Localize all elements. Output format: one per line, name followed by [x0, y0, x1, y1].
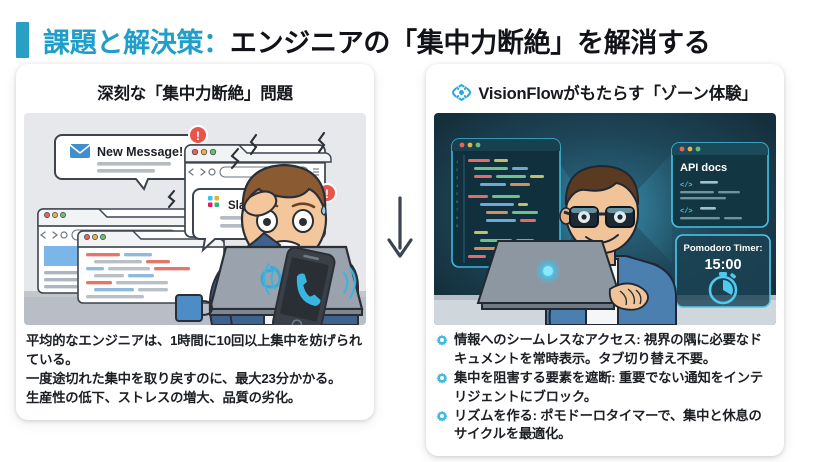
focused-engineer-ar-illustration: 123 456 789 [434, 113, 776, 325]
svg-text:8: 8 [456, 217, 458, 221]
list-item-lead: 集中を阻害する要素を遮断: [454, 370, 615, 385]
solution-panel: VisionFlowがもたらす「ゾーン体験」 [426, 64, 784, 456]
svg-text:1: 1 [456, 161, 458, 165]
visionflow-logo-icon [452, 83, 471, 102]
title-accent-bar [16, 22, 29, 58]
pomodoro-timer-label: Pomodoro Timer: [684, 243, 763, 254]
gear-icon [436, 372, 448, 384]
list-item-lead: リズムを作る: [454, 408, 537, 423]
list-item: 情報へのシームレスなアクセス: 視界の隅に必要なドキュメントを常時表示。タブ切り… [436, 331, 774, 369]
panels-container: 深刻な「集中力断絶」問題 [0, 64, 828, 456]
problem-panel: 深刻な「集中力断絶」問題 [16, 64, 374, 420]
svg-text:</>: </> [680, 208, 693, 216]
problem-body-line-1: 一度途切れた集中を取り戻すのに、最大23分かかる。 [26, 370, 364, 389]
svg-text:3: 3 [456, 177, 458, 181]
list-item-text: 集中を阻害する要素を遮断: 重要でない通知をインテリジェントにブロック。 [454, 369, 774, 407]
page-title-main: 課題と解決策 [43, 28, 203, 58]
problem-body-line-0: 平均的なエンジニアは、1時間に10回以上集中を妨げられている。 [26, 332, 364, 370]
gear-icon [436, 334, 448, 346]
transition-arrow [374, 64, 426, 394]
svg-text:9: 9 [456, 225, 458, 229]
gear-icon [436, 410, 448, 422]
page-title-separator: ： [203, 28, 230, 58]
list-item: リズムを作る: ポモドーロタイマーで、集中と休息のサイクルを最適化。 [436, 407, 774, 445]
page-title: 課題と解決策：エンジニアの「集中力断絶」を解消する [43, 21, 711, 60]
solution-panel-title: VisionFlowがもたらす「ゾーン体験」 [434, 72, 776, 113]
stressed-engineer-illustration: New Message! ! [24, 113, 366, 325]
page-header: 課題と解決策：エンジニアの「集中力断絶」を解消する [0, 0, 828, 64]
svg-text:7: 7 [456, 209, 458, 213]
page-title-rest: エンジニアの「集中力断絶」を解消する [230, 28, 711, 58]
svg-text:4: 4 [456, 185, 458, 189]
problem-body-text: 平均的なエンジニアは、1時間に10回以上集中を妨げられている。 一度途切れた集中… [24, 325, 366, 410]
list-item: 集中を阻害する要素を遮断: 重要でない通知をインテリジェントにブロック。 [436, 369, 774, 407]
email-notification-text: New Message! [97, 145, 183, 159]
down-arrow-icon [385, 196, 415, 262]
svg-text:2: 2 [456, 169, 458, 173]
svg-text:!: ! [196, 129, 200, 143]
problem-body-line-2: 生産性の低下、ストレスの増大、品質の劣化。 [26, 389, 364, 408]
solution-panel-title-text: VisionFlowがもたらす「ゾーン体験」 [478, 80, 757, 104]
list-item-text: 情報へのシームレスなアクセス: 視界の隅に必要なドキュメントを常時表示。タブ切り… [454, 331, 774, 369]
api-docs-title: API docs [680, 162, 727, 174]
solution-benefits-list: 情報へのシームレスなアクセス: 視界の隅に必要なドキュメントを常時表示。タブ切り… [434, 325, 776, 446]
svg-text:5: 5 [456, 193, 458, 197]
list-item-lead: 情報へのシームレスなアクセス: [454, 332, 641, 347]
problem-panel-title: 深刻な「集中力断絶」問題 [24, 72, 366, 113]
svg-text:6: 6 [456, 201, 458, 205]
svg-text:</>: </> [680, 182, 693, 190]
pomodoro-timer-value: 15:00 [704, 257, 741, 273]
problem-panel-title-text: 深刻な「集中力断絶」問題 [97, 80, 293, 104]
list-item-text: リズムを作る: ポモドーロタイマーで、集中と休息のサイクルを最適化。 [454, 407, 774, 445]
